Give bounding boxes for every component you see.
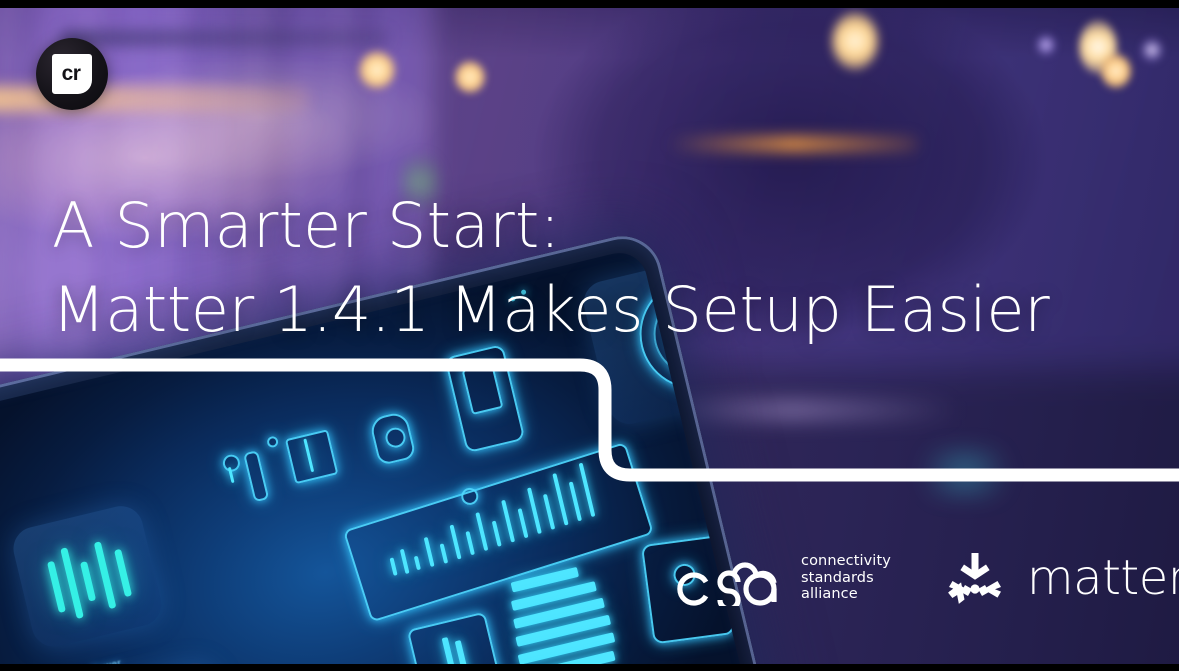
letterbox-bottom xyxy=(0,664,1179,671)
csa-tagline-line-2: standards xyxy=(801,570,891,587)
matter-wordmark: matter xyxy=(1027,554,1179,602)
matter-logo: matter xyxy=(945,549,1179,607)
csa-logo: connectivity standards alliance xyxy=(676,550,891,606)
letterbox-top xyxy=(0,0,1179,8)
cr-logo-text: cr xyxy=(62,63,81,84)
page-title: A Smarter Start: Matter 1.4.1 Makes Setu… xyxy=(52,184,1049,352)
cr-logo-badge[interactable]: cr xyxy=(36,38,108,110)
cr-logo-mark: cr xyxy=(52,54,92,94)
background-wood-rail xyxy=(668,136,918,152)
csa-wordmark-icon xyxy=(676,550,784,606)
plug-icon[interactable] xyxy=(221,453,241,473)
footer-logo-lockups: connectivity standards alliance xyxy=(676,536,1156,620)
sensor-icon[interactable] xyxy=(266,435,279,448)
lock-icon[interactable] xyxy=(285,429,339,484)
banner-canvas: Power S xyxy=(0,0,1179,671)
background-ceiling-line xyxy=(60,30,390,46)
headline-line-1: A Smarter Start: xyxy=(52,184,1049,268)
thermostat-icon[interactable] xyxy=(243,450,269,502)
csa-tagline-line-1: connectivity xyxy=(801,553,891,570)
csa-tagline: connectivity standards alliance xyxy=(801,553,891,603)
matter-arrows-icon xyxy=(945,549,1005,607)
headline-line-2: Matter 1.4.1 Makes Setup Easier xyxy=(52,268,1049,352)
csa-tagline-line-3: alliance xyxy=(801,586,891,603)
